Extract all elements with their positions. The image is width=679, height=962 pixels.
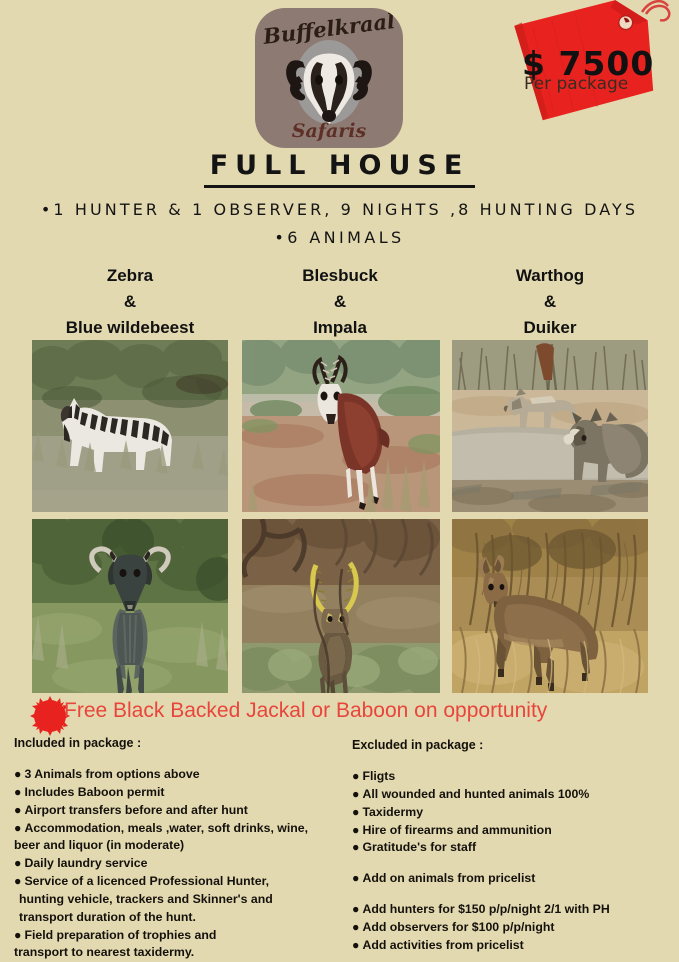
bullet-icon: ● (14, 874, 21, 888)
list-item: ●Hire of firearms and ammunition (352, 822, 672, 839)
list-item: transport to nearest taxidermy. (14, 944, 344, 961)
wildebeest-head-icon (273, 32, 385, 132)
list-item: ●3 Animals from options above (14, 766, 344, 783)
bullet-icon: ● (352, 902, 359, 916)
list-item: ●Field preparation of trophies and (14, 927, 344, 944)
list-spacer (352, 888, 672, 901)
excluded-items-container: ●Fligts●All wounded and hunted animals 1… (352, 768, 672, 954)
company-logo: Buffelkraal Safaris (255, 8, 403, 148)
photo-warthogs (452, 340, 648, 512)
bullet-icon: ● (14, 803, 21, 817)
price-tag: $ 7500 Per package (500, 0, 679, 129)
photo-impala (242, 519, 440, 693)
page-title: FULL HOUSE (0, 150, 679, 181)
package-detail-line-1: •1 HUNTER & 1 OBSERVER, 9 NIGHTS ,8 HUNT… (0, 200, 679, 219)
bullet-icon: ● (352, 938, 359, 952)
list-item-text: Hire of firearms and ammunition (362, 823, 551, 837)
list-item: hunting vehicle, trackers and Skinner's … (14, 891, 344, 908)
list-item-text: beer and liquor (in moderate) (14, 838, 184, 852)
included-section-title: Included in package : (14, 736, 344, 750)
bullet-icon: ● (352, 769, 359, 783)
list-item-text: 3 Animals from options above (24, 767, 199, 781)
list-item: ●Add on animals from pricelist (352, 870, 672, 887)
list-item: ●Airport transfers before and after hunt (14, 802, 344, 819)
package-detail-line-2: •6 ANIMALS (0, 228, 679, 247)
list-item: ●Includes Baboon permit (14, 784, 344, 801)
animal-name-blue-wildebeest: Blue wildebeest (30, 315, 230, 341)
bullet-icon: ● (14, 785, 21, 799)
list-item-text: Airport transfers before and after hunt (24, 803, 247, 817)
list-item: ●Add activities from pricelist (352, 937, 672, 954)
list-item: ●All wounded and hunted animals 100% (352, 786, 672, 803)
excluded-section-title: Excluded in package : (352, 738, 672, 752)
list-item-text: Daily laundry service (24, 856, 147, 870)
promo-offer-text: Free Black Backed Jackal or Baboon on op… (64, 699, 547, 723)
list-item-text: Fligts (362, 769, 395, 783)
bullet-icon: ● (14, 821, 21, 835)
list-item: ●Service of a licenced Professional Hunt… (14, 873, 344, 890)
animal-pair-heading-3: Warthog & Duiker (450, 263, 650, 340)
page-title-text: FULL HOUSE (204, 150, 476, 188)
list-item-text: hunting vehicle, trackers and Skinner's … (19, 892, 273, 906)
list-item-text: All wounded and hunted animals 100% (362, 787, 589, 801)
list-item: ●Taxidermy (352, 804, 672, 821)
logo-tagline: Safaris (255, 120, 403, 142)
photo-blue-wildebeest (32, 519, 228, 693)
list-item: ●Fligts (352, 768, 672, 785)
list-item-text: transport to nearest taxidermy. (14, 945, 194, 959)
bullet-icon: ● (352, 805, 359, 819)
bullet-icon: ● (352, 840, 359, 854)
animal-pair-heading-2: Blesbuck & Impala (240, 263, 440, 340)
list-item-text: Field preparation of trophies and (24, 928, 216, 942)
ampersand-3: & (450, 289, 650, 315)
bullet-icon: ● (352, 920, 359, 934)
list-item-text: Taxidermy (362, 805, 423, 819)
bullet-icon: ● (14, 767, 21, 781)
list-item: transport duration of the hunt. (14, 909, 344, 926)
bullet-icon: ● (14, 928, 21, 942)
price-sublabel: Per package (524, 74, 674, 94)
list-item: ●Gratitude's for staff (352, 839, 672, 856)
animal-name-blesbuck: Blesbuck (240, 263, 440, 289)
list-item: ●Add hunters for $150 p/p/night 2/1 with… (352, 901, 672, 918)
excluded-package-section: Excluded in package : ●Fligts●All wounde… (352, 738, 672, 955)
list-item-text: Add activities from pricelist (362, 938, 523, 952)
list-item-text: Add on animals from pricelist (362, 871, 535, 885)
included-package-section: Included in package : ●3 Animals from op… (14, 736, 344, 962)
photo-blesbuck (242, 340, 440, 512)
list-item: ●Daily laundry service (14, 855, 344, 872)
list-item-text: Includes Baboon permit (24, 785, 164, 799)
list-item: beer and liquor (in moderate) (14, 837, 344, 854)
animal-name-zebra: Zebra (30, 263, 230, 289)
list-item-text: transport duration of the hunt. (19, 910, 196, 924)
bullet-icon: ● (352, 823, 359, 837)
list-item-text: Add observers for $100 p/p/night (362, 920, 554, 934)
bullet-icon: ● (14, 856, 21, 870)
list-spacer (352, 857, 672, 870)
animal-name-impala: Impala (240, 315, 440, 341)
list-item-text: Add hunters for $150 p/p/night 2/1 with … (362, 902, 609, 916)
included-items-container: ●3 Animals from options above●Includes B… (14, 766, 344, 961)
list-item: ●Accommodation, meals ,water, soft drink… (14, 820, 344, 837)
photo-zebra (32, 340, 228, 512)
photo-duiker (452, 519, 648, 693)
animal-name-duiker: Duiker (450, 315, 650, 341)
list-item-text: Accommodation, meals ,water, soft drinks… (24, 821, 308, 835)
animal-name-warthog: Warthog (450, 263, 650, 289)
bullet-icon: ● (352, 787, 359, 801)
ampersand-2: & (240, 289, 440, 315)
list-item-text: Gratitude's for staff (362, 840, 476, 854)
animal-pair-heading-1: Zebra & Blue wildebeest (30, 263, 230, 340)
bullet-icon: ● (352, 871, 359, 885)
list-item: ●Add observers for $100 p/p/night (352, 919, 672, 936)
ampersand-1: & (30, 289, 230, 315)
list-item-text: Service of a licenced Professional Hunte… (24, 874, 269, 888)
